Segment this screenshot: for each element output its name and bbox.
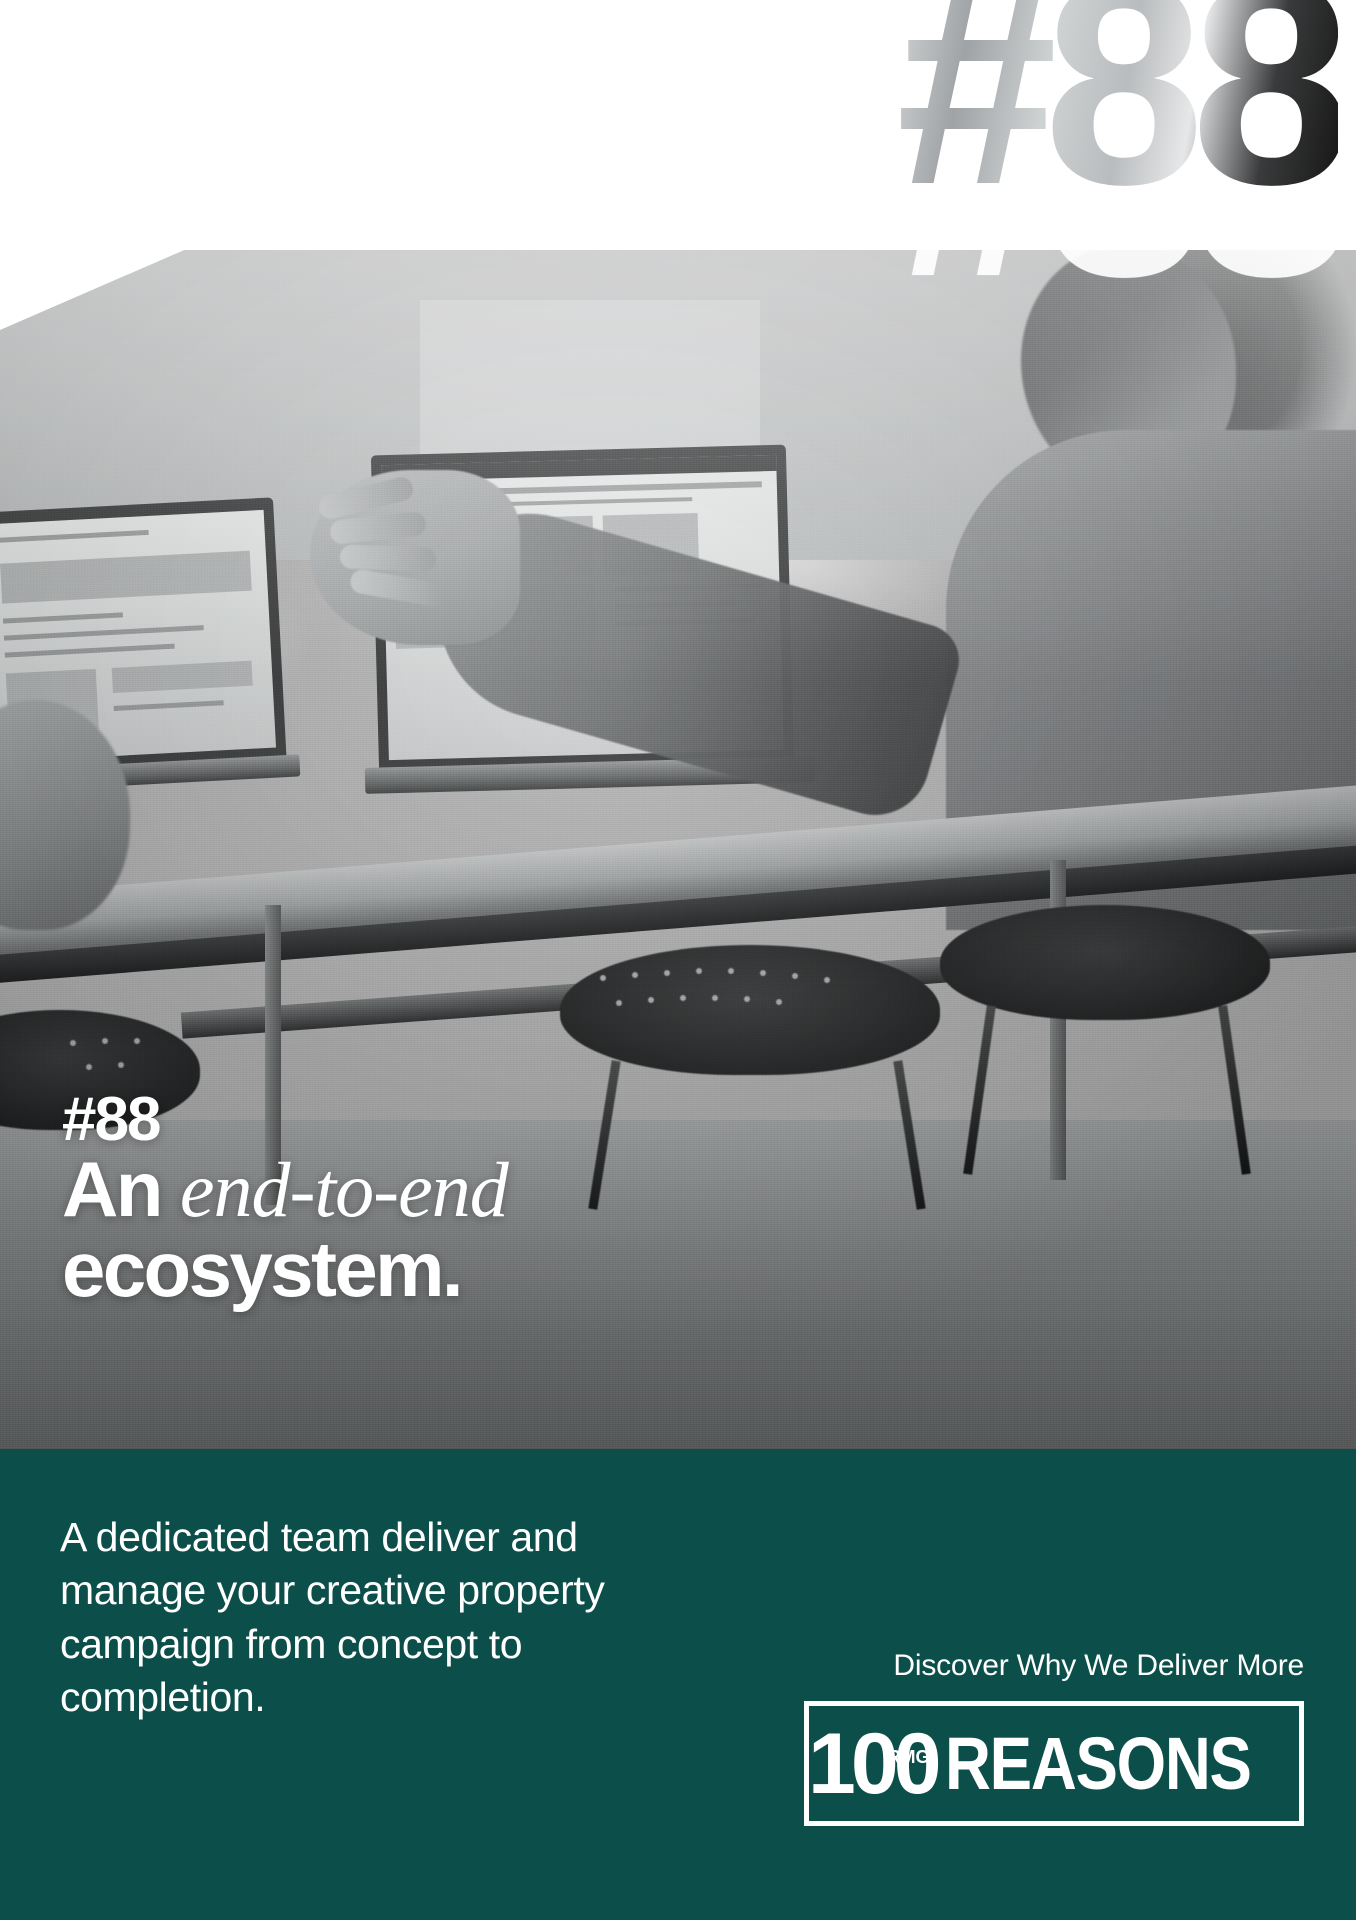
brand-logo-word: REASONS bbox=[945, 1727, 1251, 1801]
headline-italic: end-to-end bbox=[180, 1146, 508, 1233]
tagline: Discover Why We Deliver More bbox=[893, 1649, 1304, 1683]
headline-line-2: ecosystem. bbox=[62, 1228, 508, 1311]
brand-logo-numeral: 100RMG bbox=[808, 1721, 937, 1807]
headline-prefix: An bbox=[62, 1145, 180, 1233]
body-copy: A dedicated team deliver and manage your… bbox=[60, 1511, 680, 1724]
headline-line-1: An end-to-end bbox=[62, 1148, 508, 1232]
photo-finger bbox=[340, 544, 437, 571]
hero-number: #88 bbox=[896, 0, 1338, 228]
brand-logo-inner: 100RMG REASONS bbox=[808, 1721, 1300, 1807]
headline-block: #88 An end-to-end ecosystem. bbox=[62, 1088, 508, 1311]
footer-panel: A dedicated team deliver and manage your… bbox=[0, 1449, 1356, 1920]
brand-logo-superscript: RMG bbox=[888, 1748, 930, 1766]
poster-canvas: #88 #88 #88 An end-to-end ecosystem. A d… bbox=[0, 0, 1356, 1920]
brand-logo[interactable]: 100RMG REASONS bbox=[804, 1701, 1304, 1826]
headline-number: #88 bbox=[62, 1088, 508, 1152]
